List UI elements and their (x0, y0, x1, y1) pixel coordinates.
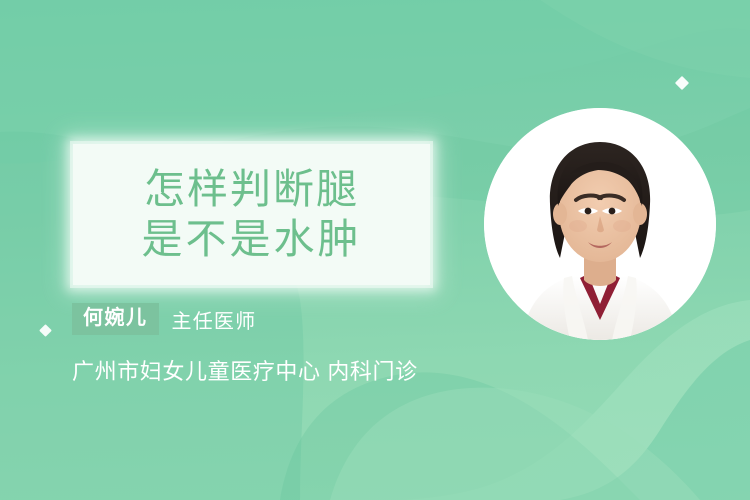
diamond-sparkle-icon-left (39, 324, 52, 337)
doctor-intro-card: 怎样判断腿 是不是水肿 何婉儿 主任医师 广州市妇女儿童医疗中心 内科门诊 (0, 0, 750, 500)
pupil-left (585, 208, 592, 215)
doctor-portrait-illustration (484, 108, 716, 340)
sweep-top-right (540, 0, 750, 78)
swell-bottom (330, 388, 700, 500)
ribbon-scurve (280, 372, 640, 500)
pupil-right (609, 208, 616, 215)
doctor-affiliation: 广州市妇女儿童医疗中心 内科门诊 (72, 358, 418, 386)
title-panel: 怎样判断腿 是不是水肿 (73, 144, 430, 285)
title-line-1: 怎样判断腿 (144, 168, 359, 211)
ear-right (633, 203, 647, 225)
doctor-portrait-circle (484, 108, 716, 340)
doctor-professional-title: 主任医师 (172, 305, 257, 334)
ribbon-dark-right (560, 340, 750, 500)
cheek-left (569, 220, 587, 232)
cheek-right (613, 220, 631, 232)
ear-left (553, 203, 567, 225)
title-line-2: 是不是水肿 (142, 218, 362, 261)
doctor-name-badge: 何婉儿 (72, 303, 159, 335)
doctor-identity-row: 何婉儿 主任医师 (72, 303, 256, 335)
diamond-sparkle-icon-right (675, 76, 689, 90)
